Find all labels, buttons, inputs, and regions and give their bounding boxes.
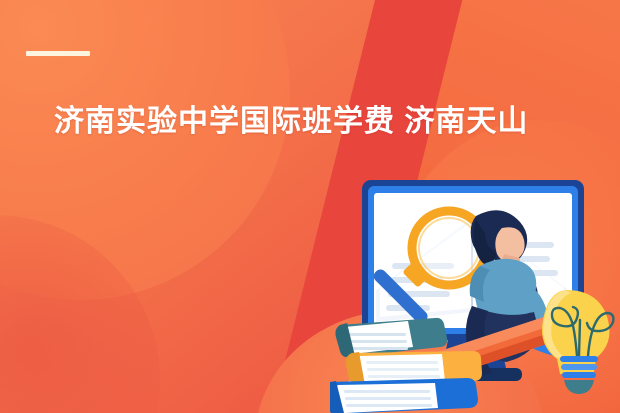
lightbulb-icon xyxy=(542,290,613,394)
decorative-rule xyxy=(26,51,90,56)
promo-banner: 济南实验中学国际班学费 济南天山 xyxy=(0,0,620,413)
book-blue xyxy=(330,378,478,413)
book-teal xyxy=(336,318,448,357)
bulb-base xyxy=(560,356,598,394)
illustration-svg xyxy=(330,170,620,413)
banner-title: 济南实验中学国际班学费 济南天山 xyxy=(54,102,614,142)
online-learning-illustration xyxy=(330,170,620,413)
